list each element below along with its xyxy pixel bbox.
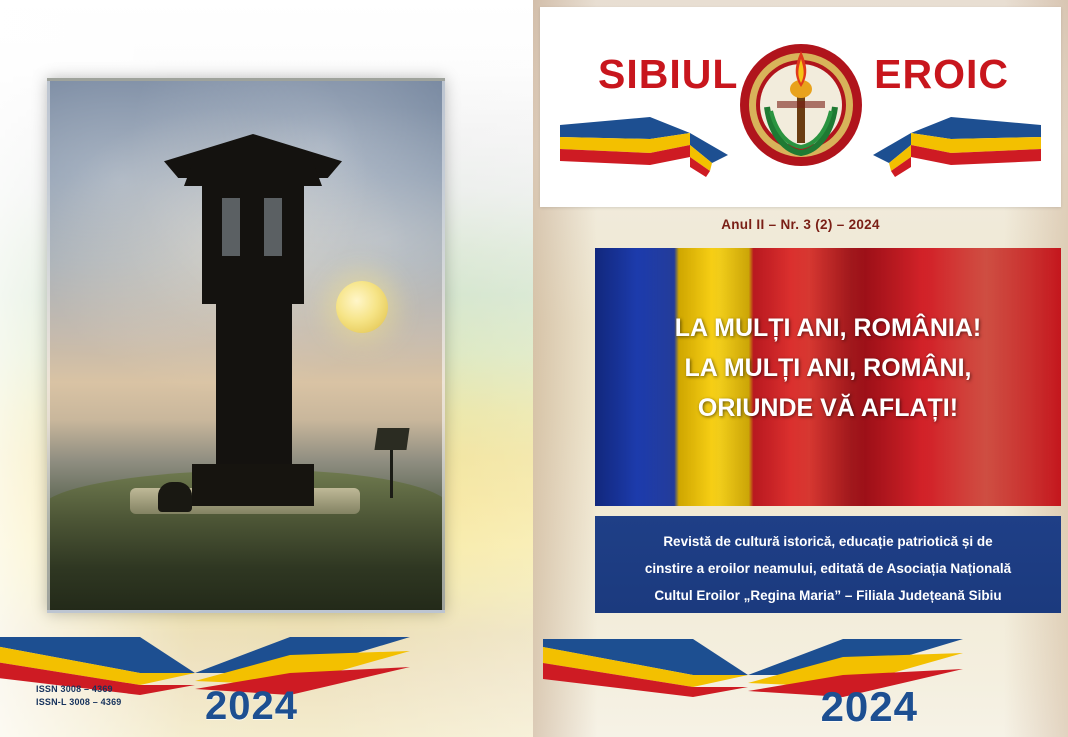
seated-person-silhouette: [158, 482, 192, 512]
description-line-1: Revistă de cultură istorică, educație pa…: [617, 528, 1039, 555]
monument-photo: [47, 78, 445, 613]
greeting-line-3: ORIUNDE VĂ AFLAȚI!: [595, 388, 1061, 428]
issn-l-value: ISSN-L 3008 – 4369: [36, 696, 122, 709]
greeting-text: LA MULȚI ANI, ROMÂNIA! LA MULȚI ANI, ROM…: [595, 308, 1061, 428]
magazine-cover-spread: ISSN 3008 – 4369 ISSN-L 3008 – 4369 2024…: [0, 0, 1068, 737]
back-cover: ISSN 3008 – 4369 ISSN-L 3008 – 4369 2024: [0, 0, 533, 737]
front-cover: SIBIUL EROIC: [533, 0, 1068, 737]
greeting-line-2: LA MULȚI ANI, ROMÂNI,: [595, 348, 1061, 388]
issn-block: ISSN 3008 – 4369 ISSN-L 3008 – 4369: [36, 683, 122, 709]
belfry-opening-left: [222, 198, 240, 256]
monument-column-center: [224, 300, 282, 470]
moon: [336, 281, 388, 333]
lamp-post-silhouette: [390, 438, 393, 498]
monument-roof-lower: [184, 164, 322, 186]
front-cover-year: 2024: [821, 683, 918, 731]
monument-column-right: [278, 300, 292, 470]
emblem-icon: [737, 41, 865, 169]
masthead-word-left: SIBIUL: [598, 51, 738, 98]
masthead-band: SIBIUL EROIC: [540, 7, 1061, 207]
description-band: Revistă de cultură istorică, educație pa…: [595, 516, 1061, 613]
monument-base: [192, 464, 314, 506]
monument-belfry: [202, 184, 304, 304]
asociatia-nationala-cultul-eroilor-emblem: [737, 41, 865, 169]
back-cover-year: 2024: [205, 684, 298, 729]
bell-tower-monument-silhouette: [168, 134, 338, 514]
romanian-flag-banner: LA MULȚI ANI, ROMÂNIA! LA MULȚI ANI, ROM…: [595, 248, 1061, 506]
masthead-word-right: EROIC: [874, 51, 1009, 98]
greeting-line-1: LA MULȚI ANI, ROMÂNIA!: [595, 308, 1061, 348]
description-line-2: cinstire a eroilor neamului, editată de …: [617, 555, 1039, 582]
issue-line: Anul II – Nr. 3 (2) – 2024: [533, 217, 1068, 232]
belfry-opening-right: [264, 198, 282, 256]
description-line-3: Cultul Eroilor „Regina Maria” – Filiala …: [617, 582, 1039, 609]
issn-value: ISSN 3008 – 4369: [36, 683, 122, 696]
